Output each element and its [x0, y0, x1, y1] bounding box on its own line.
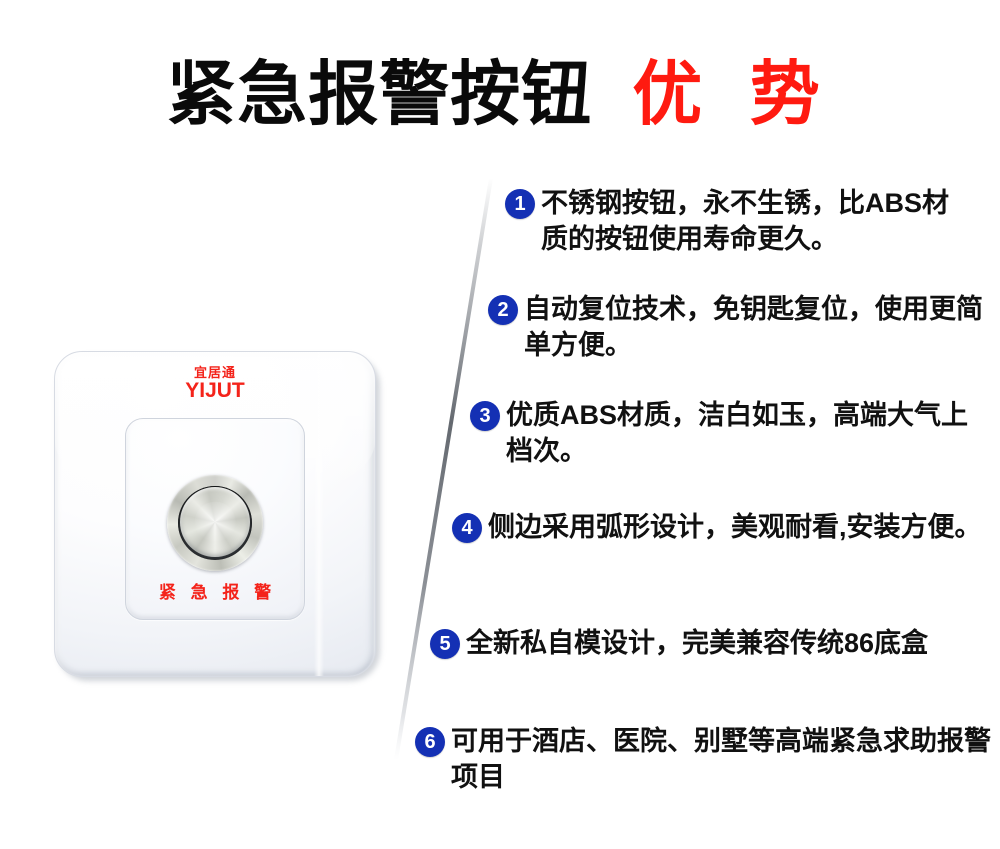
brand-latin-name: YIJUT: [55, 380, 375, 401]
button-brushed-face: [180, 487, 250, 557]
feature-text-2: 自动复位技术，免钥匙复位，使用更简单方便。: [524, 292, 983, 363]
feature-text-5: 全新私自模设计，完美兼容传统86底盒: [466, 626, 928, 662]
feature-text-1: 不锈钢按钮，永不生锈，比ABS材质的按钮使用寿命更久。: [541, 186, 975, 257]
feature-text-4: 侧边采用弧形设计，美观耐看,安装方便。: [488, 510, 982, 546]
feature-item-4: 4 侧边采用弧形设计，美观耐看,安装方便。: [452, 510, 987, 546]
feature-badge-6: 6: [415, 727, 445, 757]
feature-item-2: 2 自动复位技术，免钥匙复位，使用更简单方便。: [488, 292, 983, 363]
feature-item-3: 3 优质ABS材质，洁白如玉，高端大气上档次。: [470, 398, 985, 469]
button-specular-highlight: [195, 502, 236, 543]
inner-recessed-panel: 紧 急 报 警: [125, 418, 305, 620]
feature-text-3: 优质ABS材质，洁白如玉，高端大气上档次。: [506, 398, 985, 469]
feature-badge-4: 4: [452, 513, 482, 543]
title-accent-text: 优 势: [632, 55, 833, 133]
wall-plate: 宜居通 YIJUT 紧 急 报 警: [54, 351, 376, 677]
brand-chinese-name: 宜居通: [55, 366, 375, 379]
brand-logo: 宜居通 YIJUT: [55, 366, 375, 401]
feature-item-5: 5 全新私自模设计，完美兼容传统86底盒: [430, 626, 995, 662]
feature-badge-2: 2: [488, 295, 518, 325]
button-caption: 紧 急 报 警: [126, 578, 304, 603]
product-image: 宜居通 YIJUT 紧 急 报 警: [52, 348, 382, 688]
feature-list: 1 不锈钢按钮，永不生锈，比ABS材质的按钮使用寿命更久。 2 自动复位技术，免…: [410, 186, 1000, 816]
emergency-push-button[interactable]: [167, 475, 263, 571]
title-main-text: 紧急报警按钮: [166, 55, 592, 133]
feature-item-6: 6 可用于酒店、医院、别墅等高端紧急求助报警项目: [415, 724, 995, 795]
infographic-page: 紧急报警按钮优 势 宜居通 YIJ: [0, 0, 1000, 849]
feature-item-1: 1 不锈钢按钮，永不生锈，比ABS材质的按钮使用寿命更久。: [505, 186, 975, 257]
feature-badge-3: 3: [470, 401, 500, 431]
page-title: 紧急报警按钮优 势: [0, 38, 1000, 139]
feature-badge-5: 5: [430, 629, 460, 659]
feature-badge-1: 1: [505, 189, 535, 219]
feature-text-6: 可用于酒店、医院、别墅等高端紧急求助报警项目: [451, 724, 995, 795]
